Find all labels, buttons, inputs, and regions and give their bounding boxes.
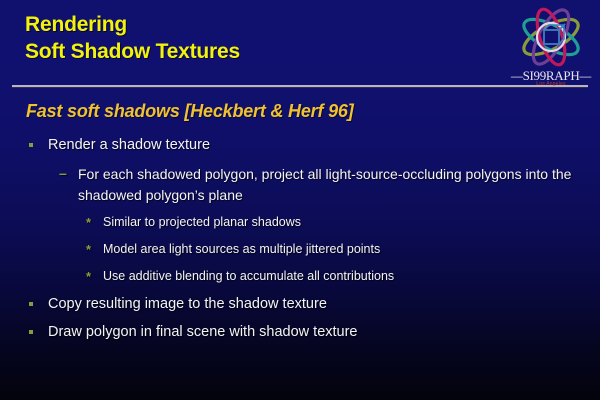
bullet-text: Use additive blending to accumulate all … <box>103 268 600 285</box>
bullet-text: Model area light sources as multiple jit… <box>103 241 600 258</box>
siggraph-city-label: Los Angeles <box>504 81 598 87</box>
bullet-text: Similar to projected planar shadows <box>103 214 600 231</box>
presentation-slide: Rendering Soft Shadow Textures —SI99RAPH… <box>0 0 600 400</box>
square-bullet-icon <box>29 330 33 334</box>
slide-title: Rendering Soft Shadow Textures <box>25 11 240 65</box>
siggraph-logo: —SI99RAPH— Los Angeles <box>504 2 598 94</box>
bullet-text: Copy resulting image to the shadow textu… <box>48 295 600 314</box>
asterisk-bullet-icon: * <box>86 216 91 229</box>
bullet-text: Render a shadow texture <box>48 136 600 155</box>
bullet-level3: * Use additive blending to accumulate al… <box>0 268 600 285</box>
bullet-text: Draw polygon in final scene with shadow … <box>48 323 600 342</box>
bullet-level1: Render a shadow texture <box>0 136 600 155</box>
slide-subtitle: Fast soft shadows [Heckbert & Herf 96] <box>26 101 353 122</box>
bullet-level3: * Similar to projected planar shadows <box>0 214 600 231</box>
bullet-level3: * Model area light sources as multiple j… <box>0 241 600 258</box>
bullet-text: For each shadowed polygon, project all l… <box>78 164 578 206</box>
slide-body: Render a shadow texture – For each shado… <box>0 136 600 351</box>
title-divider <box>12 85 588 87</box>
slide-title-line-1: Rendering <box>25 11 240 38</box>
bullet-level2: – For each shadowed polygon, project all… <box>0 164 600 206</box>
asterisk-bullet-icon: * <box>86 270 91 283</box>
slide-title-line-2: Soft Shadow Textures <box>25 38 240 65</box>
siggraph-logo-mark <box>504 2 598 72</box>
bullet-level1: Draw polygon in final scene with shadow … <box>0 323 600 342</box>
bullet-level1: Copy resulting image to the shadow textu… <box>0 295 600 314</box>
square-bullet-icon <box>29 302 33 306</box>
asterisk-bullet-icon: * <box>86 243 91 256</box>
square-bullet-icon <box>29 143 33 147</box>
dash-bullet-icon: – <box>59 166 67 180</box>
